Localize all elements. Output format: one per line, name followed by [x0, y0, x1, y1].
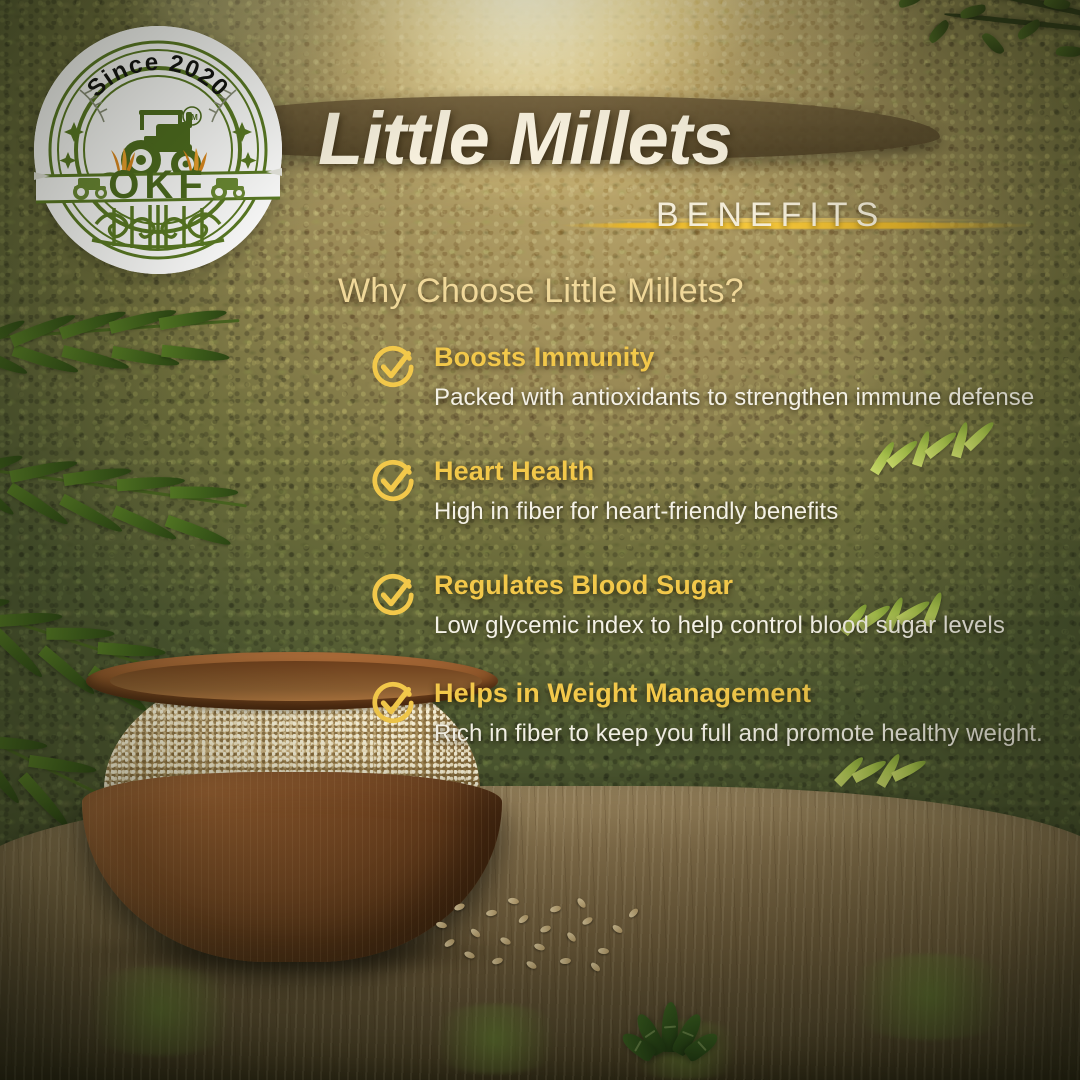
- vignette-overlay: [0, 0, 1080, 1080]
- poster-canvas: Since 2020: [0, 0, 1080, 1080]
